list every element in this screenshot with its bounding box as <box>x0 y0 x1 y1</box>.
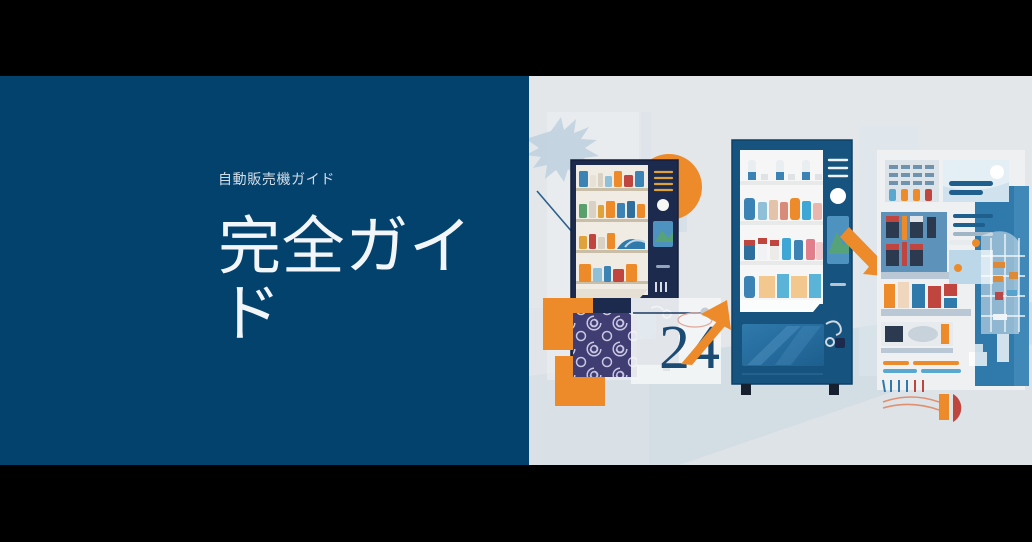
infographic-panel-right <box>877 150 1029 422</box>
info-object-card <box>881 322 953 353</box>
info-summary-card <box>943 160 1009 202</box>
title-block: 自動販売機ガイド 完全ガイド <box>218 170 498 348</box>
control-panel-left <box>651 165 676 295</box>
numeral-badge: 24 <box>659 314 720 382</box>
illustration-panel: 24 <box>529 76 1032 465</box>
screenshot-stage: 自動販売機ガイド 完全ガイド <box>0 0 1032 542</box>
info-grid-card <box>885 160 939 202</box>
vending-machine-illustration: 24 <box>529 76 1032 465</box>
vending-machine-center <box>732 140 852 395</box>
slide: 自動販売機ガイド 完全ガイド <box>0 76 1032 465</box>
title-panel: 自動販売機ガイド 完全ガイド <box>0 76 529 465</box>
page-title: 完全ガイド <box>218 214 498 348</box>
coin-button-left <box>657 199 669 211</box>
coin-button-center <box>830 188 846 204</box>
eyebrow-text: 自動販売機ガイド <box>218 170 498 188</box>
purple-rose-pattern-square <box>573 313 637 377</box>
